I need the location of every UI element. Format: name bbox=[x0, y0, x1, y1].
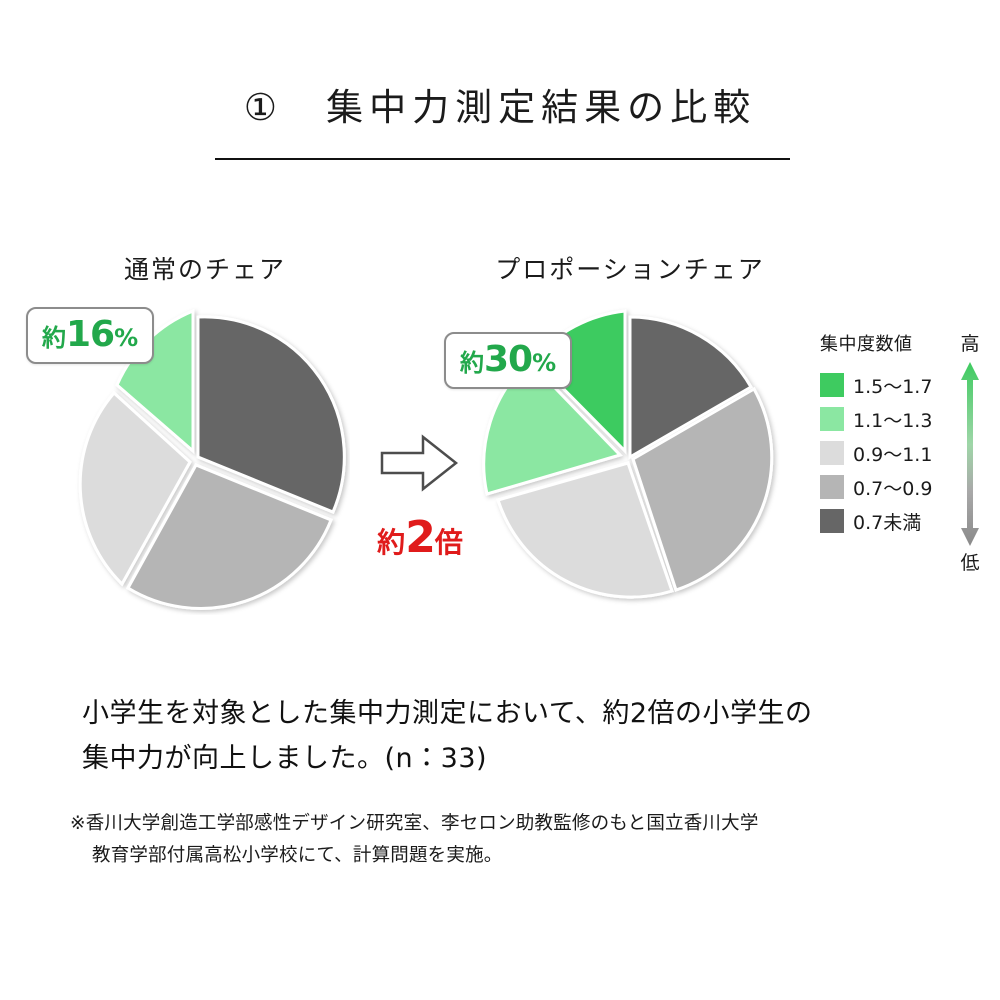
legend-item-0-7-0-9: 0.7〜0.9 bbox=[820, 470, 950, 504]
summary-line-1: 小学生を対象とした集中力測定において、約2倍の小学生の bbox=[82, 692, 942, 737]
legend-item-label: 1.5〜1.7 bbox=[853, 372, 932, 399]
legend-item-1-1-1-3: 1.1〜1.3 bbox=[820, 402, 950, 436]
page-title-text: ① 集中力測定結果の比較 bbox=[0, 86, 1000, 130]
legend-swatch-icon bbox=[820, 407, 844, 431]
legend-swatch-icon bbox=[820, 509, 844, 533]
multiplier-value: 2 bbox=[405, 512, 435, 563]
badge-value: 16 bbox=[66, 314, 114, 355]
scale-label-low: 低 bbox=[948, 553, 992, 574]
page-title: ① 集中力測定結果の比較 bbox=[0, 86, 1000, 130]
badge-prefix: 約 bbox=[42, 324, 66, 352]
double-headed-gradient-arrow-icon bbox=[961, 362, 979, 546]
footnote-line-2: 教育学部付属高松小学校にて、計算問題を実施。 bbox=[70, 840, 950, 872]
legend-scale: 高 低 bbox=[948, 334, 992, 574]
legend-swatch-icon bbox=[820, 373, 844, 397]
transition-arrow bbox=[378, 432, 460, 494]
badge-suffix: % bbox=[532, 349, 556, 377]
title-underline bbox=[215, 158, 790, 160]
legend-item-0-9-1-1: 0.9〜1.1 bbox=[820, 436, 950, 470]
legend-title: 集中度数値 bbox=[820, 330, 950, 356]
multiplier-suffix: 倍 bbox=[435, 526, 463, 559]
legend-swatch-icon bbox=[820, 441, 844, 465]
badge-value: 30 bbox=[484, 339, 532, 380]
legend: 集中度数値 1.5〜1.7 1.1〜1.3 0.9〜1.1 0.7〜0.9 0.… bbox=[820, 330, 950, 538]
badge-prefix: 約 bbox=[460, 349, 484, 377]
summary-text: 小学生を対象とした集中力測定において、約2倍の小学生の 集中力が向上しました。(… bbox=[82, 692, 942, 781]
legend-item-under-0-7: 0.7未満 bbox=[820, 504, 950, 538]
legend-item-label: 0.9〜1.1 bbox=[853, 440, 932, 467]
chart-caption-proportion-chair: プロポーションチェア bbox=[440, 250, 820, 286]
chart-caption-normal-chair: 通常のチェア bbox=[60, 250, 350, 286]
badge-normal-chair-percent: 約16% bbox=[26, 307, 154, 364]
legend-item-label: 1.1〜1.3 bbox=[853, 406, 932, 433]
legend-item-1-5-1-7: 1.5〜1.7 bbox=[820, 368, 950, 402]
infographic-page: { "title": { "number": "①", "text": "集中力… bbox=[0, 0, 1000, 1000]
legend-item-label: 0.7未満 bbox=[853, 508, 921, 535]
legend-swatch-icon bbox=[820, 475, 844, 499]
footnote: ※香川大学創造工学部感性デザイン研究室、李セロン助教監修のもと国立香川大学 教育… bbox=[70, 808, 950, 873]
scale-gradient-arrow bbox=[957, 360, 983, 548]
summary-line-2: 集中力が向上しました。(n：33) bbox=[82, 737, 942, 782]
footnote-line-1: ※香川大学創造工学部感性デザイン研究室、李セロン助教監修のもと国立香川大学 bbox=[70, 808, 950, 840]
badge-proportion-chair-percent: 約30% bbox=[444, 332, 572, 389]
legend-item-label: 0.7〜0.9 bbox=[853, 474, 932, 501]
multiplier-annotation: 約2倍 bbox=[350, 512, 490, 563]
multiplier-prefix: 約 bbox=[377, 526, 405, 559]
scale-label-high: 高 bbox=[948, 334, 992, 355]
badge-suffix: % bbox=[114, 324, 138, 352]
right-arrow-outline-icon bbox=[382, 437, 456, 489]
